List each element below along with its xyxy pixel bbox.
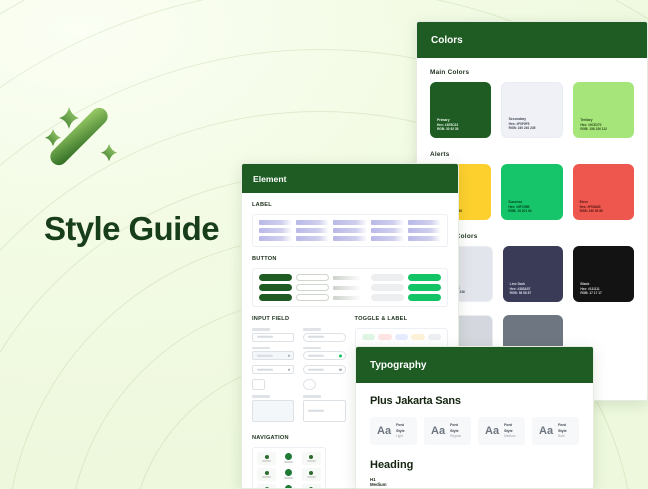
input-value: [257, 354, 273, 356]
input-col-left: [252, 328, 294, 427]
element-panel-header: Element: [242, 164, 458, 193]
input-rounded-active-field[interactable]: [303, 347, 345, 361]
button-green[interactable]: [408, 284, 441, 291]
nav-item[interactable]: [279, 484, 298, 489]
font-style-card: AaFont StyleBold: [532, 417, 579, 445]
font-style-sub: Light: [396, 434, 410, 439]
nav-item[interactable]: [302, 452, 321, 465]
select-value: [308, 368, 324, 370]
label-chip: [296, 220, 329, 225]
label-grid: [259, 220, 441, 241]
font-glyph: Aa: [539, 425, 553, 437]
button-ghost[interactable]: [296, 284, 329, 291]
nav-item-icon: [285, 469, 292, 476]
button-text[interactable]: [333, 276, 366, 280]
input-select-field[interactable]: [252, 365, 294, 374]
clear-icon[interactable]: [288, 354, 291, 357]
nav-item-label: [262, 460, 271, 462]
font-meta: Font StyleMedium: [504, 423, 518, 439]
input-label: [252, 395, 270, 398]
button-solid[interactable]: [259, 284, 292, 291]
navigation-grid: [257, 452, 321, 489]
button-section-title: BUTTON: [252, 256, 448, 262]
label-chip: [296, 236, 329, 241]
nav-item-label: [284, 461, 293, 463]
color-swatch: TertiaryHex: #9CE270RGB: 156 226 112: [573, 82, 634, 138]
input-dropdown-field[interactable]: [303, 365, 345, 374]
input-box[interactable]: [303, 333, 345, 342]
hero-block: Style Guide: [44, 100, 274, 248]
nav-item-label: [307, 460, 316, 462]
input-rounded-field[interactable]: [303, 328, 345, 342]
nav-item-label: [262, 476, 271, 478]
input-field-pair: [252, 328, 346, 427]
textarea-placeholder: [308, 410, 324, 412]
page-title: Style Guide: [44, 210, 274, 248]
font-style-title: Font Style: [504, 423, 518, 434]
select-box[interactable]: [252, 365, 294, 374]
label-tag[interactable]: [411, 334, 425, 340]
input-textarea-outline-field[interactable]: [303, 395, 345, 422]
label-chip: [259, 220, 292, 225]
button-disabled[interactable]: [371, 274, 404, 281]
input-label: [303, 328, 321, 331]
input-field-title: INPUT FIELD: [252, 316, 346, 322]
color-swatch: PrimaryHex: #1E5C23RGB: 30 92 35: [430, 82, 491, 138]
alert-colors-row: WarningHex: #FFD02ERGB: 255 208 46Succes…: [430, 164, 634, 220]
typography-panel: Typography Plus Jakarta Sans AaFont Styl…: [355, 346, 594, 489]
select-value: [257, 368, 273, 370]
select-box[interactable]: [303, 365, 345, 374]
nav-item-label: [284, 477, 293, 479]
font-family-name: Plus Jakarta Sans: [370, 395, 579, 407]
input-box[interactable]: [252, 333, 294, 342]
nav-item[interactable]: [257, 484, 276, 489]
textarea-box[interactable]: [303, 400, 345, 422]
label-tag[interactable]: [378, 334, 392, 340]
magic-wand-icon: [44, 100, 130, 186]
font-style-cards: AaFont StyleLightAaFont StyleRegularAaFo…: [370, 417, 579, 445]
nav-item-icon: [309, 471, 313, 475]
font-meta: Font StyleLight: [396, 423, 410, 439]
main-colors-title: Main Colors: [430, 69, 634, 76]
swatch-rgb: RGB: 240 240 245: [509, 126, 556, 131]
input-label: [252, 347, 270, 350]
label-tag[interactable]: [395, 334, 409, 340]
quantity-stepper[interactable]: [252, 379, 265, 390]
nav-item-icon: [309, 455, 313, 459]
button-text[interactable]: [333, 296, 366, 300]
textarea-box[interactable]: [252, 400, 294, 422]
heading-section-title: Heading: [370, 459, 579, 471]
font-style-card: AaFont StyleLight: [370, 417, 417, 445]
button-grid: [259, 274, 441, 301]
label-chip: [259, 228, 292, 233]
nav-item-icon: [285, 453, 292, 460]
label-chip: [408, 236, 441, 241]
input-field-column: INPUT FIELD: [252, 316, 346, 427]
chevron-down-icon[interactable]: [339, 368, 342, 371]
label-chip: [371, 228, 404, 233]
label-chip: [371, 236, 404, 241]
nav-item[interactable]: [302, 484, 321, 489]
font-meta: Font StyleBold: [558, 423, 572, 439]
input-label: [303, 395, 321, 398]
button-green[interactable]: [408, 274, 441, 281]
button-solid[interactable]: [259, 274, 292, 281]
swatch-rgb: RGB: 15 201 94: [508, 209, 555, 214]
color-swatch: Line DarkHex: #383A57RGB: 56 58 87: [503, 246, 564, 302]
button-ghost[interactable]: [296, 274, 329, 281]
label-chip: [333, 236, 366, 241]
nav-item[interactable]: [257, 468, 276, 481]
color-swatch: SecondaryHex: #F0F0F5RGB: 240 240 245: [501, 82, 564, 138]
label-chip: [259, 236, 292, 241]
nav-item[interactable]: [279, 452, 298, 465]
font-glyph: Aa: [485, 425, 499, 437]
label-chip: [333, 220, 366, 225]
nav-item-label: [307, 476, 316, 478]
label-chip: [296, 228, 329, 233]
color-swatch: SuccessHex: #0FC95ERGB: 15 201 94: [501, 164, 562, 220]
input-value: [308, 336, 324, 338]
input-col-right: [303, 328, 345, 427]
circle-stepper[interactable]: [303, 379, 316, 390]
label-tag[interactable]: [362, 334, 376, 340]
font-glyph: Aa: [431, 425, 445, 437]
swatch-rgb: RGB: 17 17 17: [580, 291, 627, 296]
font-style-sub: Regular: [450, 434, 464, 439]
color-swatch: ErrorHex: #F05A50RGB: 240 90 80: [573, 164, 634, 220]
toggle-label-title: TOGGLE & LABEL: [355, 316, 449, 322]
font-style-card: AaFont StyleMedium: [478, 417, 525, 445]
h1-name: H1 Medium: [370, 477, 387, 487]
input-value: [257, 336, 273, 338]
main-colors-row: PrimaryHex: #1E5C23RGB: 30 92 35Secondar…: [430, 82, 634, 138]
label-tag[interactable]: [428, 334, 442, 340]
navigation-card: [252, 447, 326, 489]
swatch-rgb: RGB: 240 90 80: [580, 209, 627, 214]
font-style-card: AaFont StyleRegular: [424, 417, 471, 445]
swatch-rgb: RGB: 56 58 87: [510, 291, 557, 296]
check-icon: [339, 354, 342, 357]
button-green[interactable]: [408, 294, 441, 301]
nav-item[interactable]: [279, 468, 298, 481]
button-disabled[interactable]: [371, 284, 404, 291]
input-filled-field[interactable]: [252, 347, 294, 361]
font-style-title: Font Style: [450, 423, 464, 434]
typography-panel-header: Typography: [356, 347, 593, 383]
input-textarea-field[interactable]: [252, 395, 294, 422]
input-box[interactable]: [303, 351, 345, 360]
colors-panel-header: Colors: [417, 22, 647, 58]
label-card: [252, 214, 448, 247]
input-value: [308, 354, 324, 356]
label-chip: [333, 228, 366, 233]
button-text[interactable]: [333, 286, 366, 290]
nav-item[interactable]: [302, 468, 321, 481]
color-swatch: BlackHex: #111111RGB: 17 17 17: [573, 246, 634, 302]
label-chip: [408, 228, 441, 233]
font-glyph: Aa: [377, 425, 391, 437]
button-card: [252, 268, 448, 307]
swatch-rgb: RGB: 156 226 112: [580, 127, 627, 132]
button-solid[interactable]: [259, 294, 292, 301]
swatch-rgb: RGB: 30 92 35: [437, 127, 484, 132]
neutral-colors-row: LineHex: #E1E3ECRGB: 225 227 236Line Dar…: [430, 246, 634, 302]
input-label: [252, 328, 270, 331]
nav-item[interactable]: [257, 452, 276, 465]
h1-spec: H1 Medium Plus Jakarta Sans Medium 48px …: [370, 477, 387, 489]
typography-panel-body: Plus Jakarta Sans AaFont StyleLightAaFon…: [356, 383, 593, 489]
neutral-colors-title: Neutral Colors: [430, 233, 634, 240]
h1-specimen-row: H1 Medium Plus Jakarta Sans Medium 48px …: [370, 477, 579, 489]
label-chip: [371, 220, 404, 225]
button-disabled[interactable]: [371, 294, 404, 301]
nav-item-icon: [265, 455, 269, 459]
input-label: [303, 347, 321, 350]
label-section-title: LABEL: [252, 202, 448, 208]
input-box[interactable]: [252, 351, 294, 360]
chevron-down-icon[interactable]: [288, 368, 291, 371]
input-text-field[interactable]: [252, 328, 294, 342]
nav-item-icon: [285, 485, 292, 489]
font-style-title: Font Style: [396, 423, 410, 434]
font-style-sub: Bold: [558, 434, 572, 439]
tag-row: [362, 334, 442, 340]
nav-item-icon: [265, 471, 269, 475]
button-ghost[interactable]: [296, 294, 329, 301]
alerts-title: Alerts: [430, 151, 634, 158]
font-style-sub: Medium: [504, 434, 518, 439]
font-style-title: Font Style: [558, 423, 572, 434]
font-meta: Font StyleRegular: [450, 423, 464, 439]
label-chip: [408, 220, 441, 225]
